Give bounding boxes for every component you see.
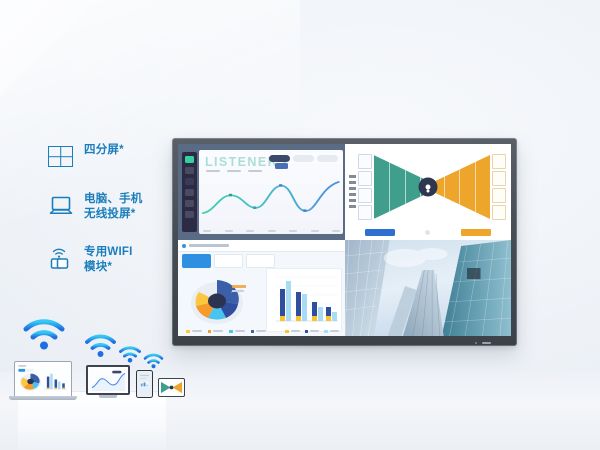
- sidebar-icon-folder[interactable]: [185, 189, 194, 196]
- tab-detail[interactable]: [246, 254, 275, 268]
- tablet-screen: [86, 365, 130, 395]
- chart-x-axis: [203, 230, 341, 232]
- laptop-screen: [14, 361, 72, 396]
- feature-label: 专用WIFI 模块*: [84, 244, 132, 275]
- donut-chart: [186, 270, 248, 328]
- title-dot-icon: [182, 244, 186, 248]
- wifi-icon-large: [22, 316, 66, 352]
- marketing-button[interactable]: [365, 229, 395, 236]
- listeners-card: LISTENERS: [199, 150, 343, 234]
- feature-item-wireless-cast: 电脑、手机 无线投屏*: [48, 191, 168, 222]
- sidebar-icon-settings[interactable]: [185, 211, 194, 218]
- laptop-device[interactable]: [14, 361, 76, 400]
- pill-software[interactable]: [269, 155, 290, 162]
- feature-label: 四分屏*: [84, 142, 124, 158]
- pedestal: [18, 392, 166, 450]
- pill-label[interactable]: [317, 155, 338, 162]
- analytics-button[interactable]: [461, 229, 491, 236]
- bar-chart: [266, 268, 342, 332]
- chart-tooltip: [275, 163, 288, 169]
- infographic-side-title: [349, 175, 356, 209]
- title-text: [189, 244, 229, 247]
- tab-overview[interactable]: [182, 254, 211, 268]
- listeners-subnav[interactable]: [206, 170, 262, 172]
- tv-sensor: [475, 342, 477, 344]
- wall-corner-highlight: [0, 0, 170, 160]
- quadrant-skyscraper-photo[interactable]: [345, 240, 512, 336]
- infographic-footer[interactable]: [365, 229, 492, 236]
- sidebar-icon-chart[interactable]: [185, 178, 194, 185]
- scene: 四分屏* 电脑、手机 无线投屏* 专用WIFI 模: [0, 0, 600, 450]
- right-label-column: [492, 154, 506, 220]
- tab-trend[interactable]: [214, 254, 243, 268]
- quadrant-analytics-dashboard[interactable]: [178, 240, 345, 336]
- quad-screen-icon: [48, 143, 74, 169]
- sidebar-icon-user[interactable]: [185, 200, 194, 207]
- sidebar-icon-music[interactable]: [185, 167, 194, 174]
- tablet-device[interactable]: [86, 365, 130, 398]
- dashboard-titlebar: [178, 240, 345, 252]
- left-label-column: [358, 154, 372, 220]
- feature-item-quad-screen: 四分屏*: [48, 142, 168, 169]
- phone-screen: [136, 370, 153, 398]
- listeners-filter-pills[interactable]: [269, 155, 338, 162]
- phone-device[interactable]: [136, 370, 153, 398]
- quadrant-listeners-dashboard[interactable]: LISTENERS: [178, 144, 345, 240]
- bar-legend: [285, 330, 339, 334]
- donut-legend: [186, 330, 266, 334]
- user-icon: [418, 178, 437, 197]
- feature-label: 电脑、手机 无线投屏*: [84, 191, 143, 222]
- feature-list: 四分屏* 电脑、手机 无线投屏* 专用WIFI 模: [48, 142, 168, 297]
- laptop-base: [9, 396, 77, 400]
- mini-tablet-device[interactable]: [158, 378, 185, 397]
- feature-item-wifi-module: 专用WIFI 模块*: [48, 244, 168, 275]
- laptop-dashboard: [17, 364, 69, 394]
- device-group: [10, 352, 170, 400]
- laptop-icon: [48, 192, 74, 218]
- tv-screen: LISTENERS: [178, 144, 511, 336]
- sidebar-icon-home[interactable]: [185, 156, 194, 163]
- wifi-module-icon: [48, 245, 74, 271]
- quadrant-bowtie-infographic[interactable]: [345, 144, 512, 240]
- tv-display: LISTENERS: [172, 138, 517, 346]
- mini-tablet-screen: [158, 378, 185, 397]
- tv-indicator: [482, 342, 491, 344]
- footer-divider: [425, 230, 430, 235]
- dashboard-tabs[interactable]: [182, 254, 275, 268]
- dashboard-sidebar[interactable]: [182, 152, 197, 232]
- listeners-line-chart: [201, 176, 341, 222]
- orange-funnel-right: [428, 155, 490, 219]
- pill-hardware[interactable]: [293, 155, 314, 162]
